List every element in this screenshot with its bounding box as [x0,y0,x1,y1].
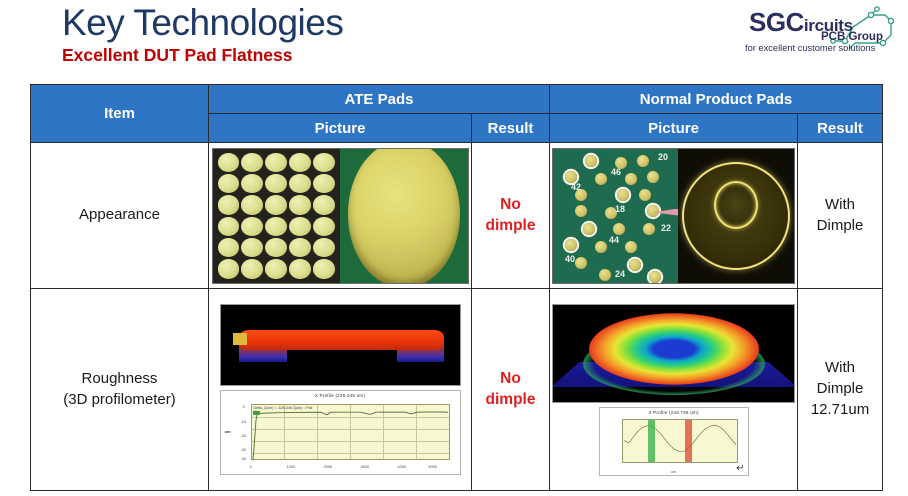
cell-ate-result-roughness: Nodimple [472,289,550,491]
pcb-pad [639,189,651,201]
chart-line-series [252,405,449,464]
pad-dot [289,174,311,193]
pcb-pad [629,259,641,271]
chart-xtick: 1000 [287,465,295,469]
pcb-pad [599,269,611,281]
pcb-pad-number: 44 [609,235,619,245]
green-cursor[interactable] [648,420,655,462]
chart-ylabel: um [225,429,231,434]
ate-single-pad-photo [340,149,468,283]
chart-plot-area [251,404,450,460]
red-cursor[interactable] [685,420,692,462]
chart-xtick: 0 [250,465,252,469]
pcb-pad [649,271,661,283]
pcb-pad [575,205,587,217]
chart-xtick: 5000 [429,465,437,469]
pcb-pad-number: 20 [658,152,668,162]
ate-appearance-figure [212,148,469,284]
logo-subtitle: PCB Group [821,31,883,43]
table-header-row-group: Item ATE Pads Normal Product Pads [31,85,883,114]
page-title: Key Technologies [62,4,343,43]
pcb-pad [625,241,637,253]
pcb-pad [647,205,659,217]
profile-plateau [239,330,444,350]
pad-dot [241,174,263,193]
cell-np-result-roughness: WithDimple12.71um [798,289,883,491]
np-appearance-figure: 20 46 42 18 22 44 40 24 [552,148,795,284]
pcb-pad [575,257,587,269]
pad-dot [218,153,240,172]
pcb-pad [637,155,649,167]
np-dimple-microscope-photo [678,149,794,283]
pad-dot [218,238,240,257]
pcb-pad [565,239,577,251]
pcb-pad [595,241,607,253]
pcb-pad-number: 40 [565,254,575,264]
pad-dot [313,195,335,214]
pad-dot [289,238,311,257]
pad-dot [313,217,335,236]
pad-dot [289,217,311,236]
pad-dot [241,195,263,214]
np-pcb-pads-photo: 20 46 42 18 22 44 40 24 [553,149,678,283]
pad-dot [218,195,240,214]
chart-title: X Profile (235.248 um) [221,393,460,398]
pad-dot [313,174,335,193]
pad-dot [265,153,287,172]
pcb-pad [595,173,607,185]
np-x-profile-chart: X Profile (248.736 um) [599,407,749,476]
pcb-pad-number: 46 [611,167,621,177]
pcb-pad [625,173,637,185]
chart-xlabel: um [600,470,748,474]
pad-dot [313,238,335,257]
pad-dot [265,174,287,193]
pcb-pad [643,223,655,235]
pad-dot [241,238,263,257]
profile-edge-cap [233,333,247,345]
chart-plot-area [622,419,738,463]
header-ate-picture: Picture [209,114,472,143]
pcb-pad-number: 22 [661,223,671,233]
pcb-pad-number: 24 [615,269,625,279]
pcb-pad [617,189,629,201]
chart-xtick: 3000 [361,465,369,469]
chart-annotation: Delta_Z(um) = -626.346 Z(um) = Flat [254,406,313,410]
pcb-pad [585,155,597,167]
pcb-pad-number: 18 [615,204,625,214]
chart-ytick: -20 [241,434,247,438]
chart-title: X Profile (248.736 um) [600,410,748,415]
chart-ytick: -10 [241,420,247,424]
cell-ate-result-appearance: Nodimple [472,143,550,289]
pcb-pad [613,223,625,235]
cell-np-result-appearance: WithDimple [798,143,883,289]
pad-dot [265,195,287,214]
row-item-roughness: Roughness(3D profilometer) [31,289,209,491]
pad-dot [289,153,311,172]
page-subtitle: Excellent DUT Pad Flatness [62,45,343,66]
cell-np-picture-appearance: 20 46 42 18 22 44 40 24 [550,143,798,289]
header-np-result: Result [798,114,883,143]
chart-xtick: 2000 [324,465,332,469]
header-np-picture: Picture [550,114,798,143]
header-ate-pads: ATE Pads [209,85,550,114]
pad-dot [313,153,335,172]
ate-pad-array-photo [213,149,341,283]
pad-dot [241,217,263,236]
header-ate-result: Result [472,114,550,143]
pad-dot [289,195,311,214]
pcb-pad [647,171,659,183]
table-row: Roughness(3D profilometer) X Profile (23… [31,289,883,491]
logo-wordmark-bold: SGC [749,7,804,37]
return-arrow-icon: ↵ [736,464,744,474]
chart-ytick: -30 [241,448,247,452]
chart-line-series [623,420,737,454]
cell-ate-picture-appearance [209,143,472,289]
profile-crater-surface [589,313,759,384]
sgcircuits-logo: SGCircuits PCB Group for excellent custo… [743,5,895,57]
pad-dot [289,259,311,278]
pcb-pad [583,223,595,235]
pad-dot [241,153,263,172]
np-3d-profile-crater [552,304,795,403]
pcb-pad-number: 42 [571,182,581,192]
pad-dot [241,259,263,278]
cell-ate-picture-roughness: X Profile (235.248 um) um [209,289,472,491]
row-item-appearance: Appearance [31,143,209,289]
pad-dot [313,259,335,278]
slide-canvas: Key Technologies Excellent DUT Pad Flatn… [0,0,908,496]
ate-3d-profile-flat [220,304,461,386]
pad-dot [218,217,240,236]
ate-x-profile-chart: X Profile (235.248 um) um [220,390,461,475]
table-row: Appearance [31,143,883,289]
pad-dot [265,238,287,257]
logo-tagline: for excellent customer solutions [745,43,875,53]
header-normal-product-pads: Normal Product Pads [550,85,883,114]
pad-dot [218,174,240,193]
cell-np-picture-roughness: X Profile (248.736 um) [550,289,798,491]
header-item: Item [31,85,209,143]
chart-ytick: -40 [241,457,247,461]
title-block: Key Technologies Excellent DUT Pad Flatn… [62,4,343,66]
key-technologies-table: Item ATE Pads Normal Product Pads Pictur… [30,84,883,491]
chart-ytick: 0 [243,405,245,409]
pad-dot [265,259,287,278]
pad-dot [218,259,240,278]
chart-xtick: 4000 [398,465,406,469]
pad-dot [265,217,287,236]
